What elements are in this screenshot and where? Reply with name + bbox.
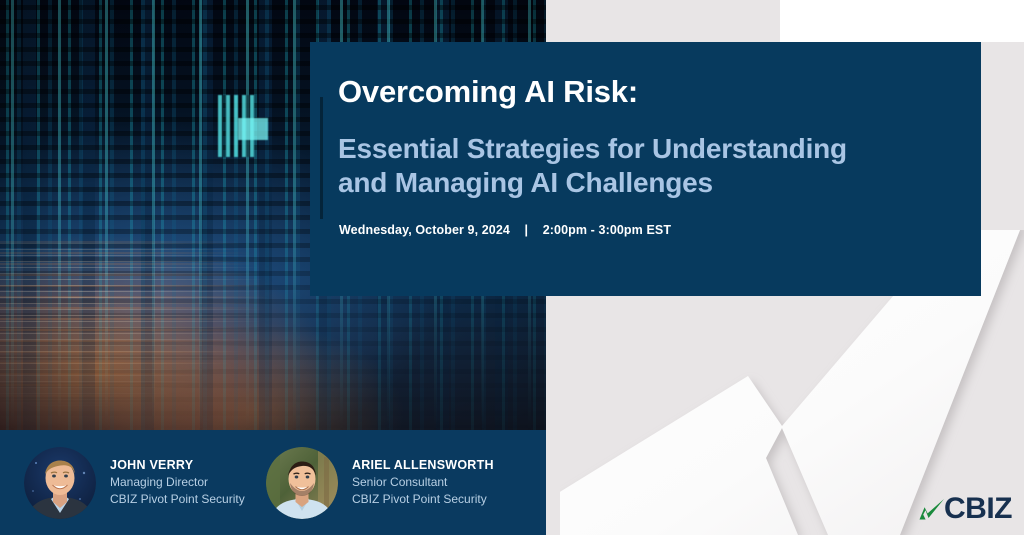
datetime-separator: | xyxy=(514,223,540,237)
page-subtitle-line-2: and Managing AI Challenges xyxy=(338,166,970,200)
speakers-bar: JOHN VERRY Managing Director CBIZ Pivot … xyxy=(0,430,546,535)
speaker-info: JOHN VERRY Managing Director CBIZ Pivot … xyxy=(110,447,245,508)
panel-accent-bar xyxy=(320,97,323,219)
page-background-top-white xyxy=(780,0,1024,42)
speaker-org: CBIZ Pivot Point Security xyxy=(352,491,494,508)
cbiz-swoosh-icon xyxy=(919,496,945,522)
speaker-name: JOHN VERRY xyxy=(110,456,245,474)
event-time: 2:00pm - 3:00pm EST xyxy=(543,223,671,237)
cbiz-logo: CBIZ xyxy=(919,492,1015,526)
speaker-role: Managing Director xyxy=(110,474,245,491)
speaker-card: JOHN VERRY Managing Director CBIZ Pivot … xyxy=(24,447,245,519)
speaker-role: Senior Consultant xyxy=(352,474,494,491)
page-subtitle: Essential Strategies for Understanding a… xyxy=(338,132,970,200)
cbiz-wordmark: CBIZ xyxy=(944,494,1012,524)
speaker-name: ARIEL ALLENSWORTH xyxy=(352,456,494,474)
title-panel: Overcoming AI Risk: Essential Strategies… xyxy=(310,42,981,296)
speaker-info: ARIEL ALLENSWORTH Senior Consultant CBIZ… xyxy=(352,447,494,508)
speaker-org: CBIZ Pivot Point Security xyxy=(110,491,245,508)
avatar xyxy=(24,447,96,519)
webinar-promo-slide: Overcoming AI Risk: Essential Strategies… xyxy=(0,0,1024,535)
page-subtitle-line-1: Essential Strategies for Understanding xyxy=(338,132,970,166)
avatar xyxy=(266,447,338,519)
speaker-card: ARIEL ALLENSWORTH Senior Consultant CBIZ… xyxy=(266,447,494,519)
event-date: Wednesday, October 9, 2024 xyxy=(339,223,510,237)
event-datetime: Wednesday, October 9, 2024 | 2:00pm - 3:… xyxy=(339,223,671,237)
page-title: Overcoming AI Risk: xyxy=(338,75,638,109)
